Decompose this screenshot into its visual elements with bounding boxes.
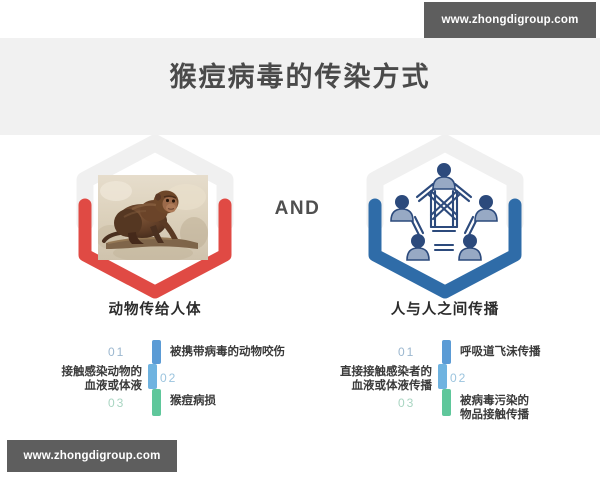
step-number: 03 bbox=[398, 396, 415, 410]
step-row: 03 被病毒污染的物品接触传播 bbox=[312, 338, 582, 366]
step-text: 直接接触感染者的血液或体液传播 bbox=[312, 364, 432, 392]
step-row: 03 猴痘病损 bbox=[22, 338, 292, 366]
panel-human-to-human: 人与人之间传播 bbox=[345, 135, 545, 320]
step-number: 02 bbox=[160, 371, 177, 385]
monkey-photo bbox=[98, 175, 208, 260]
step-bar bbox=[442, 389, 451, 416]
step-number: 03 bbox=[108, 396, 125, 410]
step-bar bbox=[152, 389, 161, 416]
watermark-top: www.zhongdigroup.com bbox=[424, 2, 596, 38]
infographic-canvas: 猴痘病毒的传染方式 www.zhongdigroup.com bbox=[0, 0, 600, 480]
watermark-top-text: www.zhongdigroup.com bbox=[441, 14, 578, 26]
watermark-bottom-text: www.zhongdigroup.com bbox=[23, 450, 160, 462]
step-bar bbox=[438, 364, 447, 389]
step-bar bbox=[148, 364, 157, 389]
page-title: 猴痘病毒的传染方式 bbox=[0, 55, 600, 94]
step-text: 被病毒污染的物品接触传播 bbox=[460, 393, 585, 421]
panel-animal-to-human: 动物传给人体 bbox=[55, 135, 255, 320]
panel-label-human-to-human: 人与人之间传播 bbox=[345, 298, 545, 319]
steps-list-animal-to-human: 01 被携带病毒的动物咬伤 02 接触感染动物的血液或体液 03 猴痘病损 bbox=[22, 338, 292, 423]
people-network-icon bbox=[385, 157, 503, 267]
steps-list-human-to-human: 01 呼吸道飞沫传播 02 直接接触感染者的血液或体液传播 03 被病毒污染的物… bbox=[312, 338, 582, 423]
step-number: 02 bbox=[450, 371, 467, 385]
and-connector-label: AND bbox=[265, 198, 330, 220]
step-text: 猴痘病损 bbox=[170, 393, 295, 407]
watermark-bottom: www.zhongdigroup.com bbox=[7, 440, 177, 472]
panel-label-animal-to-human: 动物传给人体 bbox=[55, 298, 255, 319]
step-text: 接触感染动物的血液或体液 bbox=[22, 364, 142, 392]
